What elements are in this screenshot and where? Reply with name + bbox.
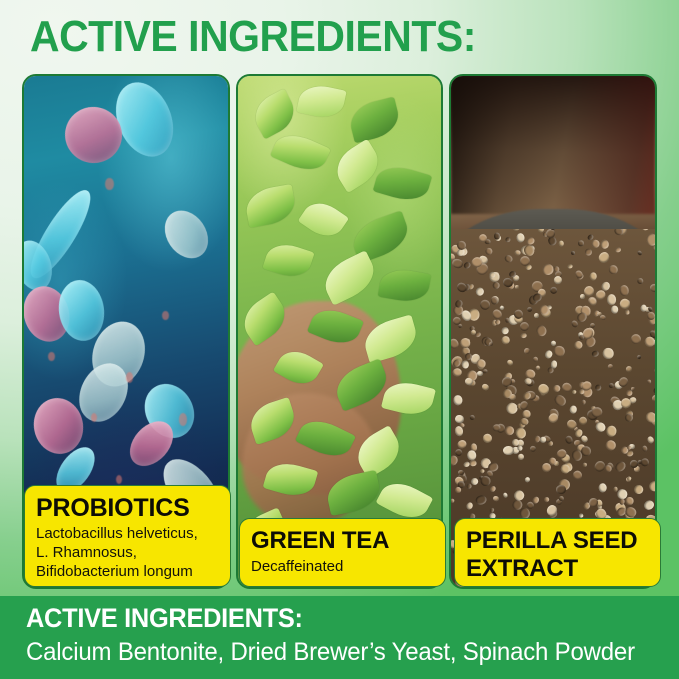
label-green-tea-title: GREEN TEA bbox=[251, 527, 434, 555]
label-perilla-seed[interactable]: PERILLA SEED EXTRACT bbox=[454, 518, 661, 587]
footer-title: ACTIVE INGREDIENTS: bbox=[26, 603, 640, 634]
page-title: ACTIVE INGREDIENTS: bbox=[30, 15, 476, 59]
label-green-tea-subtitle: Decaffeinated bbox=[251, 557, 434, 576]
green-tea-photo bbox=[238, 76, 442, 587]
label-perilla-seed-title: PERILLA SEED EXTRACT bbox=[466, 527, 649, 583]
label-probiotics-subtitle: Lactobacillus helveticus, L. Rhamnosus, … bbox=[36, 524, 219, 581]
ingredient-panel-perilla-seed bbox=[449, 74, 657, 589]
label-probiotics[interactable]: PROBIOTICS Lactobacillus helveticus, L. … bbox=[24, 485, 231, 587]
header: ACTIVE INGREDIENTS: bbox=[0, 0, 679, 74]
perilla-seed-photo bbox=[451, 76, 655, 587]
footer: ACTIVE INGREDIENTS: Calcium Bentonite, D… bbox=[0, 596, 679, 679]
label-probiotics-title: PROBIOTICS bbox=[36, 494, 219, 522]
footer-ingredient-list: Calcium Bentonite, Dried Brewer’s Yeast,… bbox=[26, 637, 653, 667]
ingredient-panel-green-tea bbox=[236, 74, 444, 589]
active-ingredients-infographic: ACTIVE INGREDIENTS: bbox=[0, 0, 679, 679]
wood-background bbox=[451, 76, 655, 214]
label-green-tea[interactable]: GREEN TEA Decaffeinated bbox=[239, 518, 446, 587]
